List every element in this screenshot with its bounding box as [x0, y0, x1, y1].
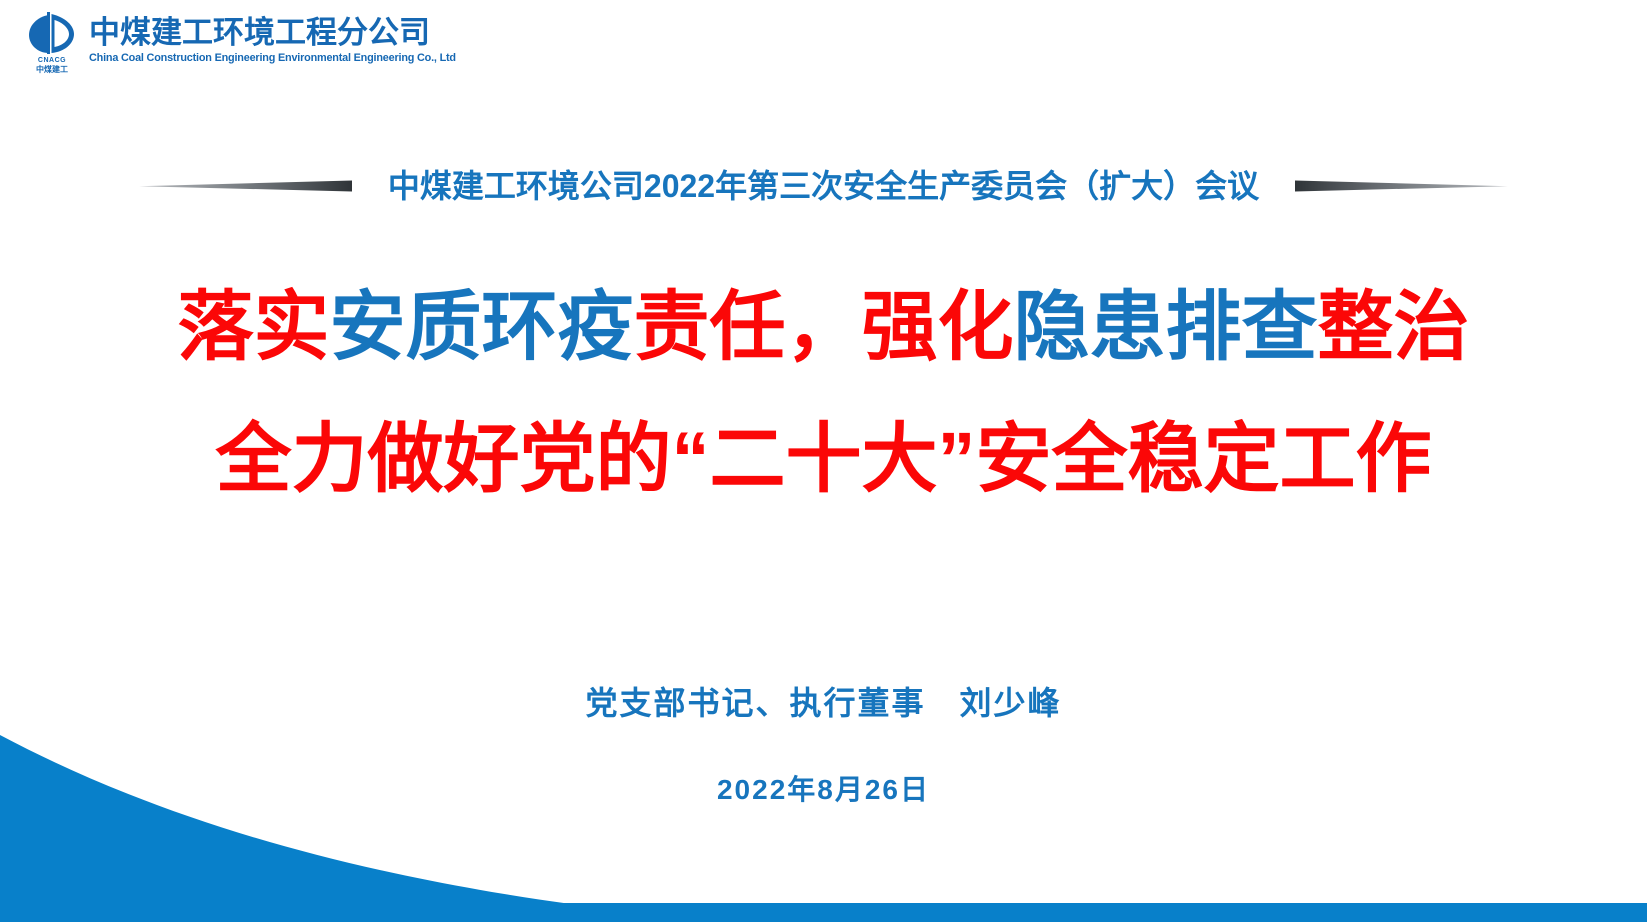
headline-seg-1: 落实: [178, 285, 330, 370]
sail-mark-svg: [26, 12, 78, 56]
tapered-rule-left-icon: [139, 178, 354, 194]
headline-line-2: 全力做好党的“二十大”安全稳定工作: [0, 422, 1647, 498]
headline-seg-4: 强化: [862, 285, 1014, 370]
logo-company-name-cn: 中煤建工环境工程分公司: [89, 17, 467, 50]
slide-headline: 落实安质环疫责任，强化隐患排查整治 全力做好党的“二十大”安全稳定工作: [0, 290, 1647, 498]
tapered-rule-right-icon: [1293, 178, 1508, 194]
headline-seg-5: 隐患排查: [1014, 285, 1318, 370]
event-date: 2022年8月26日: [0, 768, 1647, 808]
logo-mark-caption-cn: 中煤建工: [36, 65, 68, 74]
cnacg-sail-logo-icon: CNACG 中煤建工: [24, 12, 80, 74]
logo-mark-caption-en: CNACG: [38, 57, 66, 65]
meeting-header: 中煤建工环境公司2022年第三次安全生产委员会（扩大）会议: [0, 158, 1647, 214]
company-logo: CNACG 中煤建工 中煤建工环境工程分公司 China Coal Constr…: [24, 12, 467, 74]
meeting-title: 中煤建工环境公司2022年第三次安全生产委员会（扩大）会议: [354, 170, 1293, 202]
headline-line-1: 落实安质环疫责任，强化隐患排查整治: [0, 290, 1647, 366]
logo-company-name-en: China Coal Construction Engineering Envi…: [89, 52, 456, 65]
headline-seg-3: 责任，: [634, 285, 862, 370]
logo-wordmark: 中煤建工环境工程分公司 China Coal Construction Engi…: [89, 12, 467, 65]
headline-seg-6: 整治: [1318, 285, 1470, 370]
presenter-line: 党支部书记、执行董事 刘少峰: [0, 678, 1647, 724]
headline-seg-2: 安质环疫: [330, 285, 634, 370]
presentation-slide: CNACG 中煤建工 中煤建工环境工程分公司 China Coal Constr…: [0, 0, 1647, 922]
